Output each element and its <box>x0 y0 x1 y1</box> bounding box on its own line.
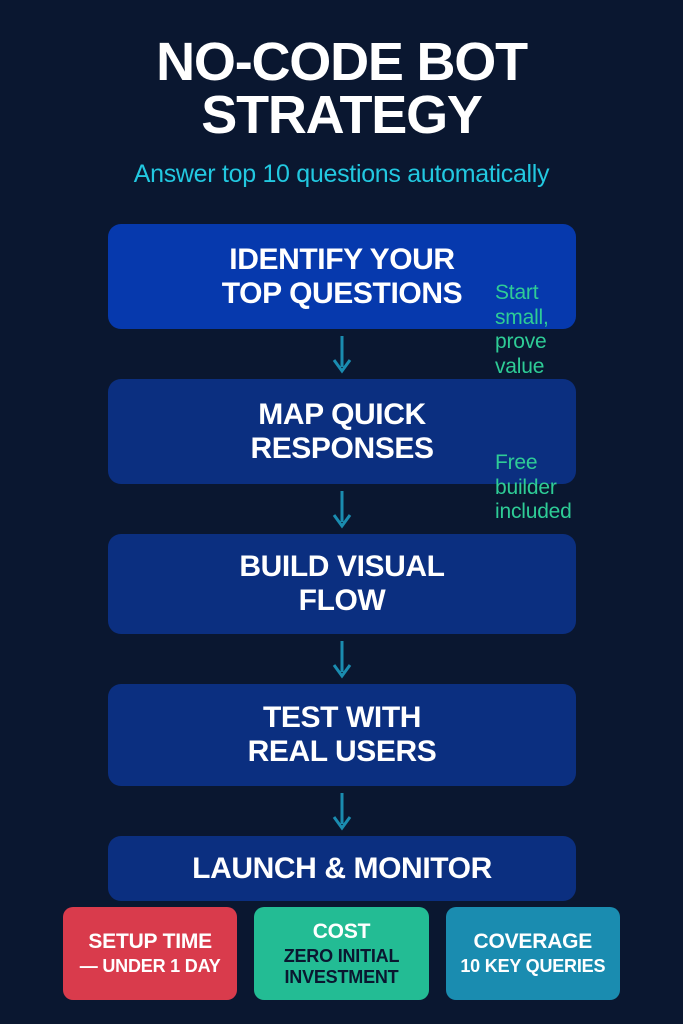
badge-title: COST <box>313 920 371 944</box>
badge-title: SETUP TIME <box>88 930 212 954</box>
badge-coverage[interactable]: COVERAGE 10 KEY QUERIES <box>446 907 620 1000</box>
flow-step-label: LAUNCH & MONITOR <box>178 852 506 886</box>
title-line-2: STRATEGY <box>0 89 683 142</box>
flow-step-label: MAP QUICK RESPONSES <box>236 398 447 465</box>
flow-step-label: IDENTIFY YOUR TOP QUESTIONS <box>208 243 476 310</box>
badge-value: ZERO INITIAL INVESTMENT <box>284 946 400 987</box>
infographic-poster: NO-CODE BOT STRATEGY Answer top 10 quest… <box>0 0 683 1024</box>
poster-header: NO-CODE BOT STRATEGY Answer top 10 quest… <box>0 36 683 189</box>
flow-connector-3 <box>108 634 576 684</box>
title-line-1: NO-CODE BOT <box>0 36 683 89</box>
arrow-down-icon <box>331 791 353 831</box>
flow-step-label: TEST WITH REAL USERS <box>234 701 451 768</box>
arrow-down-icon <box>331 639 353 679</box>
badge-cost[interactable]: COST ZERO INITIAL INVESTMENT <box>254 907 428 1000</box>
flow-step-build-visual-flow[interactable]: BUILD VISUAL FLOW <box>108 534 576 634</box>
page-subtitle: Answer top 10 questions automatically <box>0 160 683 189</box>
flow-step-label: BUILD VISUAL FLOW <box>225 550 458 617</box>
page-title: NO-CODE BOT STRATEGY <box>0 36 683 142</box>
badge-setup-time[interactable]: SETUP TIME — UNDER 1 DAY <box>63 907 237 1000</box>
badge-value: — UNDER 1 DAY <box>80 956 221 977</box>
badge-value: 10 KEY QUERIES <box>460 956 605 977</box>
flow-step-launch-and-monitor[interactable]: LAUNCH & MONITOR <box>108 836 576 901</box>
annotation-start-small: Start small, prove value <box>495 281 581 379</box>
annotation-free-builder: Free builder included <box>495 451 581 525</box>
badge-title: COVERAGE <box>474 930 593 954</box>
summary-badges: SETUP TIME — UNDER 1 DAY COST ZERO INITI… <box>63 907 620 1000</box>
flow-connector-4 <box>108 786 576 836</box>
flow-step-test-with-real-users[interactable]: TEST WITH REAL USERS <box>108 684 576 786</box>
arrow-down-icon <box>331 334 353 374</box>
arrow-down-icon <box>331 489 353 529</box>
